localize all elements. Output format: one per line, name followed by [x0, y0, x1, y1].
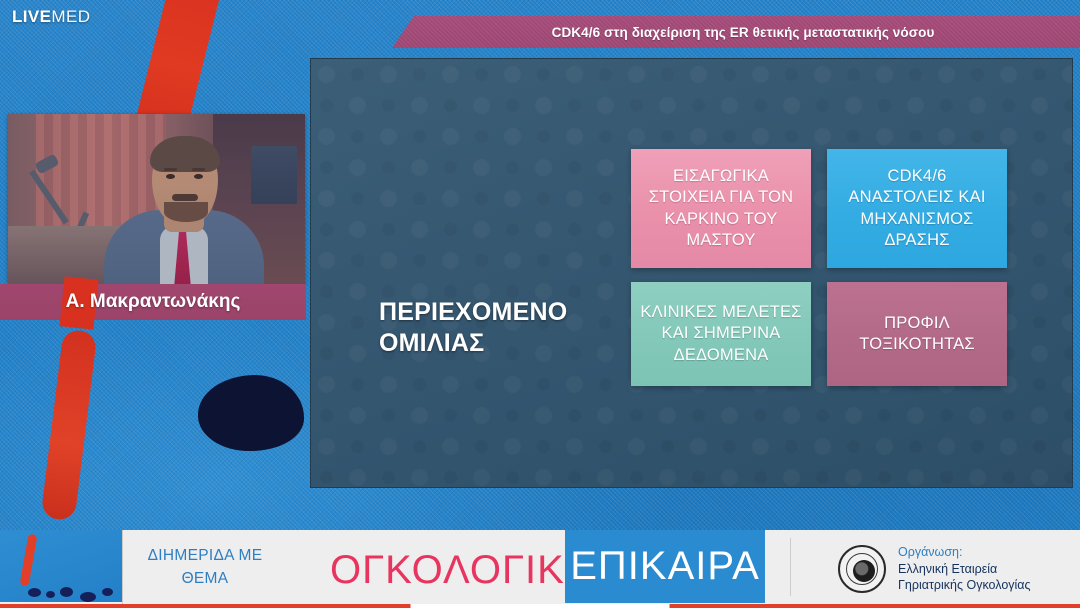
logo-live-text: LIVE: [12, 7, 51, 26]
footer-red-stroke-icon: [20, 534, 38, 587]
livemed-logo: LIVEMED: [12, 7, 90, 27]
footer-dot: [28, 588, 41, 597]
event-title-primary: ΟΓΚΟΛΟΓΙΚΑ: [330, 548, 592, 593]
footer-accent-line: [0, 604, 1080, 608]
broadcast-screen: LIVEMED CDK4/6 στη διαχείριση της ER θετ…: [0, 0, 1080, 608]
topic-box-mechanism: CDK4/6 ΑΝΑΣΤΟΛΕΙΣ ΚΑΙ ΜΗΧΑΝΙΣΜΟΣ ΔΡΑΣΗΣ: [827, 149, 1007, 268]
organizer-name-line2: Γηριατρικής Ογκολογίας: [898, 577, 1031, 594]
speaker-webcam-feed: [8, 114, 305, 284]
speaker-name: Α. Μακραντωνάκης: [0, 291, 306, 313]
footer-left-artwork: [0, 530, 122, 602]
topic-box-trials: ΚΛΙΝΙΚΕΣ ΜΕΛΕΤΕΣ ΚΑΙ ΣΗΜΕΡΙΝΑ ΔΕΔΟΜΕΝΑ: [631, 282, 811, 386]
decorative-dark-blob: [198, 375, 304, 451]
slide-heading: ΠΕΡΙΕΧΟΜΕΝΟ ΟΜΙΛΙΑΣ: [379, 297, 644, 358]
event-title-secondary-block: ΕΠΙΚΑΙΡΑ: [565, 530, 765, 603]
footer-dot: [60, 587, 73, 597]
organizer-name-line1: Ελληνική Εταιρεία: [898, 561, 1031, 578]
presentation-title: CDK4/6 στη διαχείριση της ER θετικής μετ…: [538, 25, 935, 40]
organizer-seal-icon: [838, 545, 886, 593]
footer-dot: [46, 591, 55, 598]
organizer-text: Οργάνωση: Ελληνική Εταιρεία Γηριατρικής …: [898, 544, 1031, 594]
event-subtitle: ΔΙΗΜΕΡΙΔΑ ΜΕ ΘΕΜΑ: [140, 544, 270, 591]
footer-divider-left: [122, 530, 123, 608]
presentation-title-bar: CDK4/6 στη διαχείριση της ER θετικής μετ…: [392, 16, 1080, 48]
event-footer-bar: ΔΙΗΜΕΡΙΔΑ ΜΕ ΘΕΜΑ ΟΓΚΟΛΟΓΙΚΑ ΕΠΙΚΑΙΡΑ Ορ…: [0, 530, 1080, 608]
seal-emblem-icon: [853, 560, 875, 582]
organizer-label: Οργάνωση:: [898, 544, 1031, 561]
footer-dot: [80, 592, 96, 602]
logo-med-text: MED: [51, 7, 90, 26]
topic-box-intro: ΕΙΣΑΓΩΓΙΚΑ ΣΤΟΙΧΕΙΑ ΓΙΑ ΤΟΝ ΚΑΡΚΙΝΟ ΤΟΥ …: [631, 149, 811, 268]
webcam-color-tint: [8, 114, 305, 284]
slide-topic-grid: ΕΙΣΑΓΩΓΙΚΑ ΣΤΟΙΧΕΙΑ ΓΙΑ ΤΟΝ ΚΑΡΚΙΝΟ ΤΟΥ …: [631, 149, 1013, 396]
footer-dot: [102, 588, 113, 596]
topic-box-toxicity: ΠΡΟΦΙΛ ΤΟΞΙΚΟΤΗΤΑΣ: [827, 282, 1007, 386]
footer-divider-right: [790, 538, 791, 596]
organizer-block: Οργάνωση: Ελληνική Εταιρεία Γηριατρικής …: [838, 544, 1031, 594]
speaker-name-banner: Α. Μακραντωνάκης: [0, 284, 306, 320]
event-title-secondary: ΕΠΙΚΑΙΡΑ: [570, 544, 760, 589]
slide-canvas: ΠΕΡΙΕΧΟΜΕΝΟ ΟΜΙΛΙΑΣ ΕΙΣΑΓΩΓΙΚΑ ΣΤΟΙΧΕΙΑ …: [310, 58, 1073, 488]
